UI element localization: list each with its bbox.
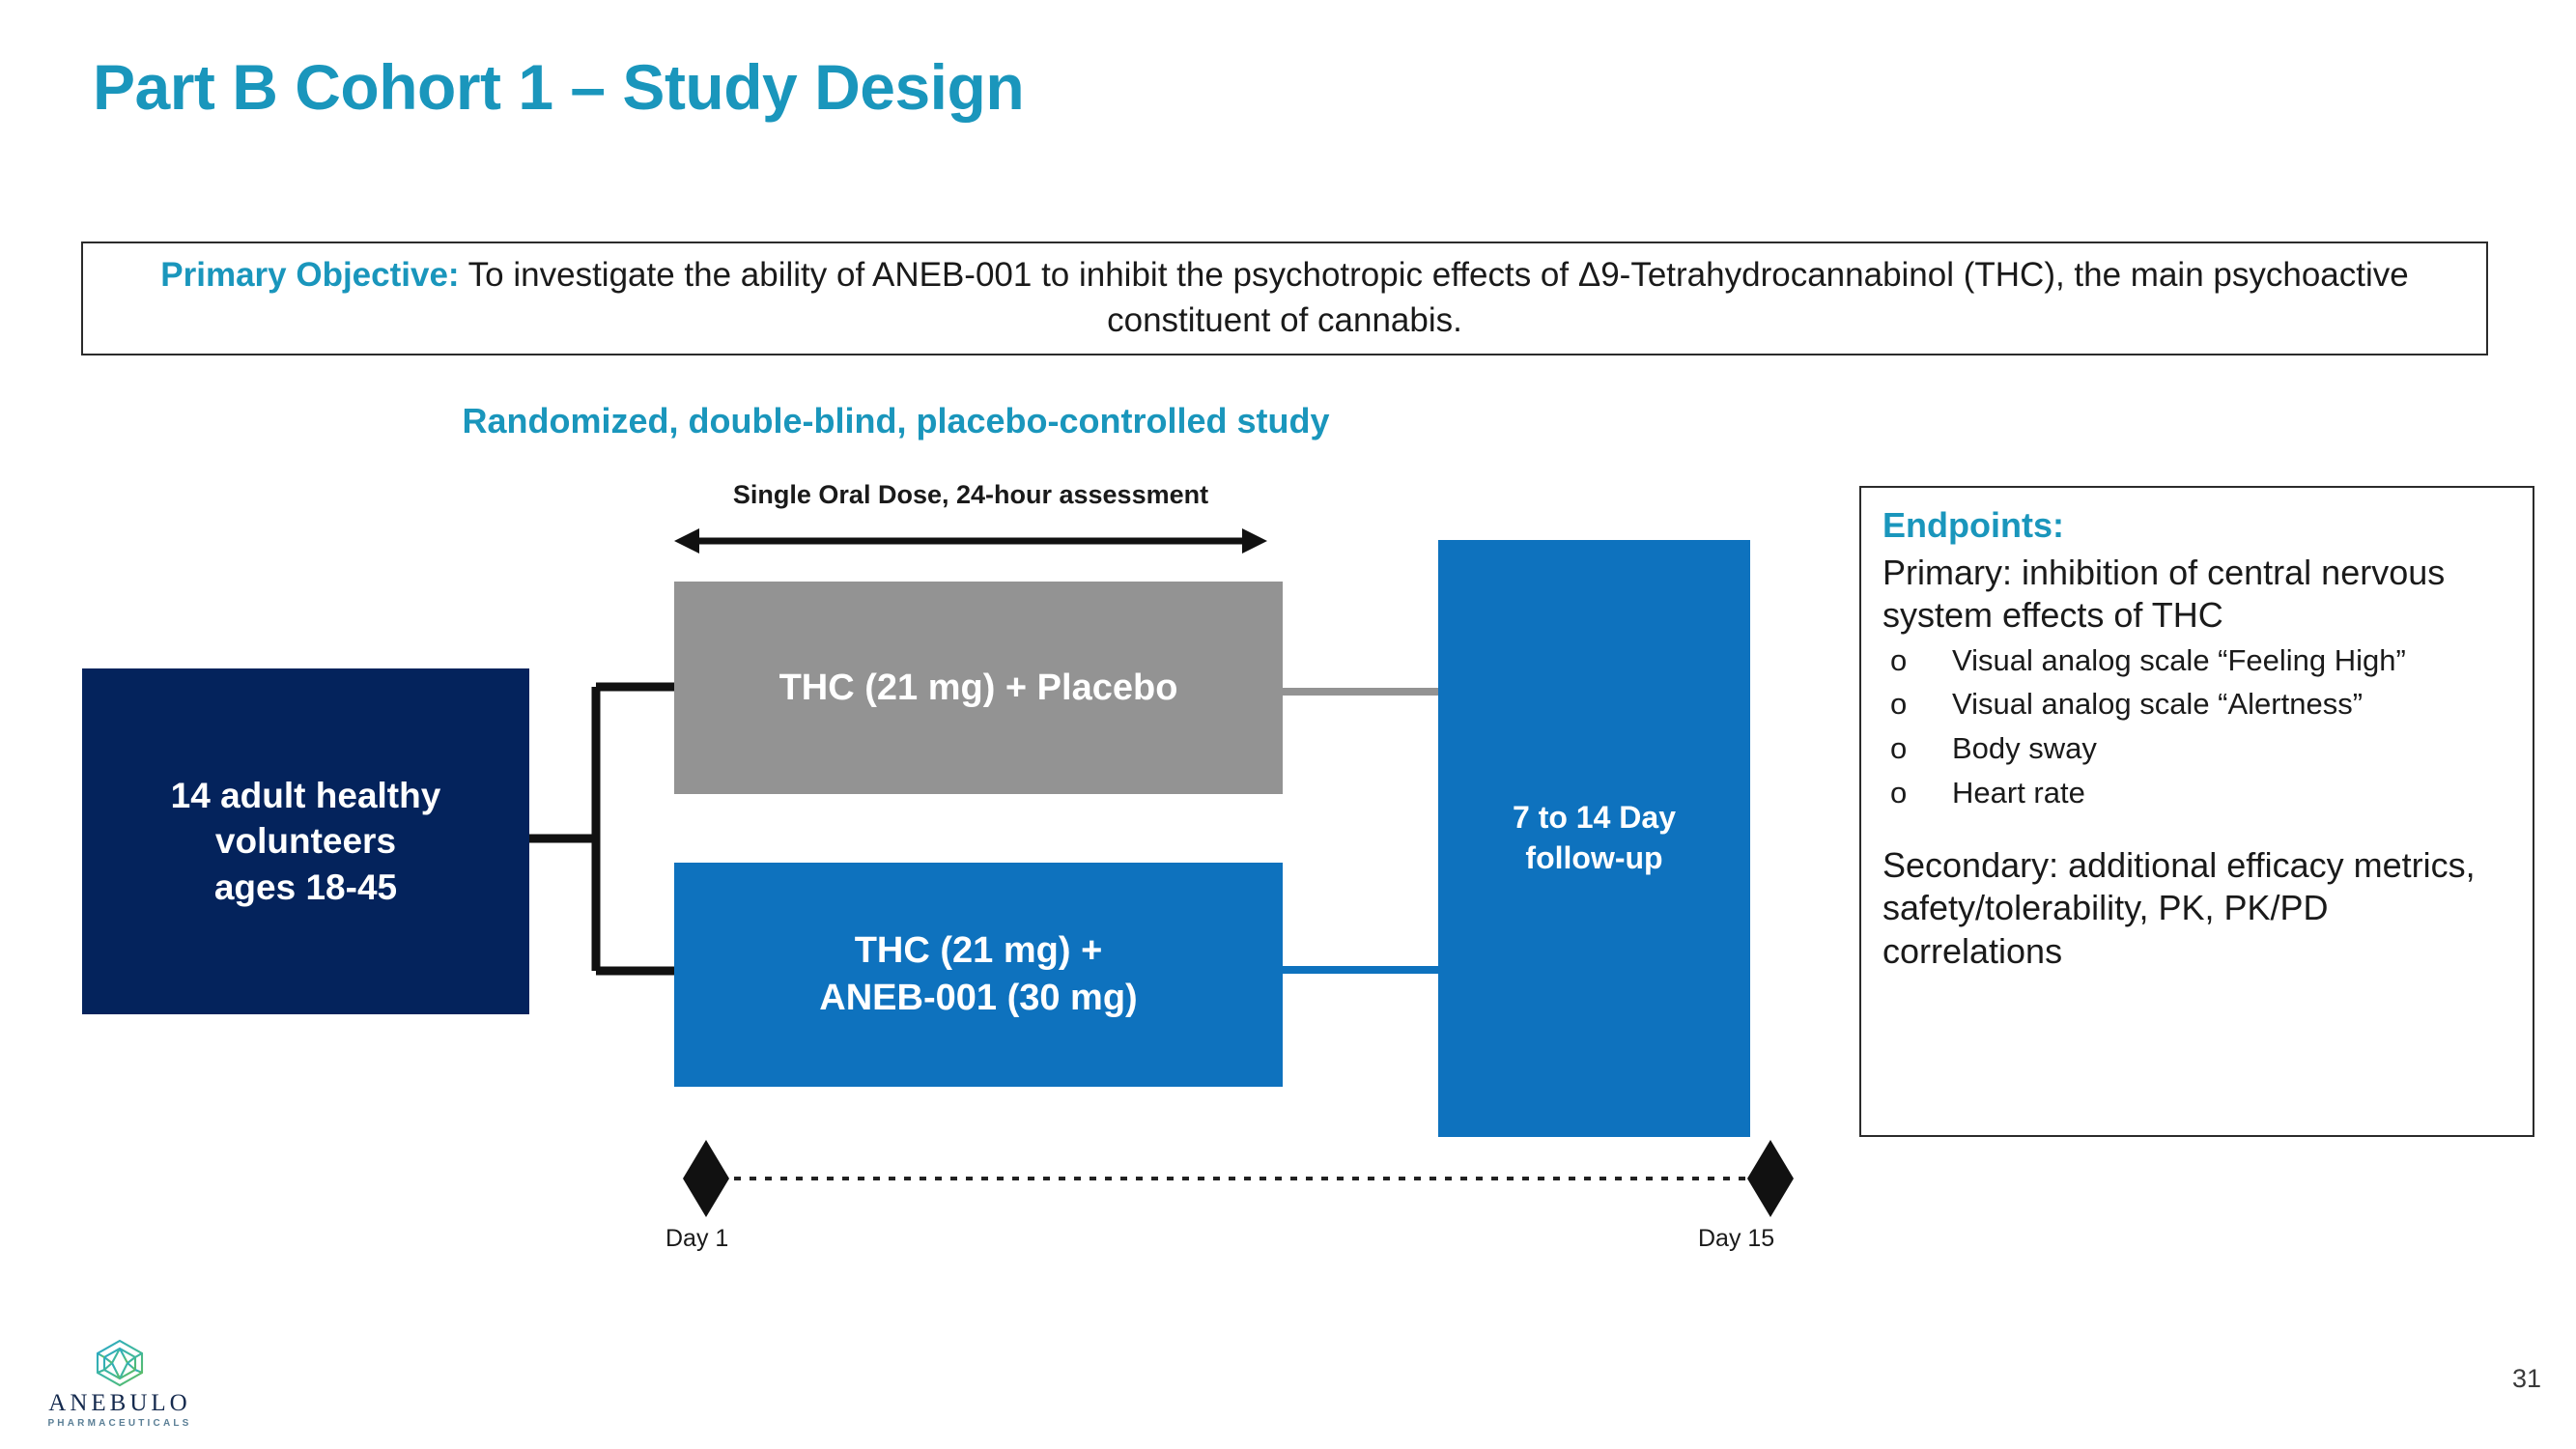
primary-objective-label: Primary Objective: [160, 256, 459, 294]
list-item-label: Heart rate [1952, 776, 2085, 810]
study-type-subtitle: Randomized, double-blind, placebo-contro… [0, 401, 1792, 441]
endpoints-secondary-text: Secondary: additional efficacy metrics, … [1882, 844, 2513, 973]
endpoints-primary-text: Primary: inhibition of central nervous s… [1882, 552, 2513, 638]
circle-bullet-icon: o [1890, 729, 1907, 768]
primary-objective-body: To investigate the ability of ANEB-001 t… [460, 256, 2409, 339]
followup-box: 7 to 14 Day follow-up [1438, 540, 1750, 1137]
primary-objective-text: Primary Objective: To investigate the ab… [97, 253, 2473, 343]
company-logo: ANEBULO PHARMACEUTICALS [33, 1338, 207, 1429]
page-number: 31 [2512, 1364, 2541, 1394]
population-box: 14 adult healthy volunteers ages 18-45 [82, 668, 529, 1014]
double-headed-arrow-icon [674, 522, 1267, 560]
day15-diamond-marker [1747, 1140, 1794, 1217]
treatment-arm-placebo-box: THC (21 mg) + Placebo [674, 582, 1283, 794]
list-item-label: Visual analog scale “Feeling High” [1952, 643, 2406, 677]
page-title: Part B Cohort 1 – Study Design [93, 50, 1024, 124]
list-item: oVisual analog scale “Feeling High” [1882, 641, 2513, 680]
population-label: 14 adult healthy volunteers ages 18-45 [171, 773, 441, 910]
logo-wordmark: ANEBULO [33, 1390, 207, 1417]
endpoints-panel: Endpoints: Primary: inhibition of centra… [1859, 486, 2534, 1137]
circle-bullet-icon: o [1890, 685, 1907, 724]
timeline-start-label: Day 1 [665, 1225, 728, 1253]
anebulo-hexagon-icon [92, 1338, 148, 1388]
treatment-arm-active-label: THC (21 mg) + ANEB-001 (30 mg) [819, 927, 1137, 1023]
list-item: oBody sway [1882, 729, 2513, 768]
dose-caption-label: Single Oral Dose, 24-hour assessment [666, 480, 1275, 510]
logo-subtext: PHARMACEUTICALS [33, 1418, 207, 1429]
day1-diamond-marker [683, 1140, 729, 1217]
treatment-arm-placebo-label: THC (21 mg) + Placebo [779, 668, 1178, 709]
treatment-arm-active-box: THC (21 mg) + ANEB-001 (30 mg) [674, 863, 1283, 1087]
list-item: oVisual analog scale “Alertness” [1882, 685, 2513, 724]
list-item-label: Body sway [1952, 731, 2097, 765]
endpoints-heading: Endpoints: [1882, 505, 2513, 546]
timeline-end-label: Day 15 [1698, 1225, 1774, 1253]
endpoints-list: oVisual analog scale “Feeling High” oVis… [1882, 641, 2513, 812]
circle-bullet-icon: o [1890, 774, 1907, 812]
list-item: oHeart rate [1882, 774, 2513, 812]
list-item-label: Visual analog scale “Alertness” [1952, 687, 2363, 721]
primary-objective-box: Primary Objective: To investigate the ab… [81, 241, 2488, 355]
circle-bullet-icon: o [1890, 641, 1907, 680]
followup-label: 7 to 14 Day follow-up [1513, 798, 1676, 878]
